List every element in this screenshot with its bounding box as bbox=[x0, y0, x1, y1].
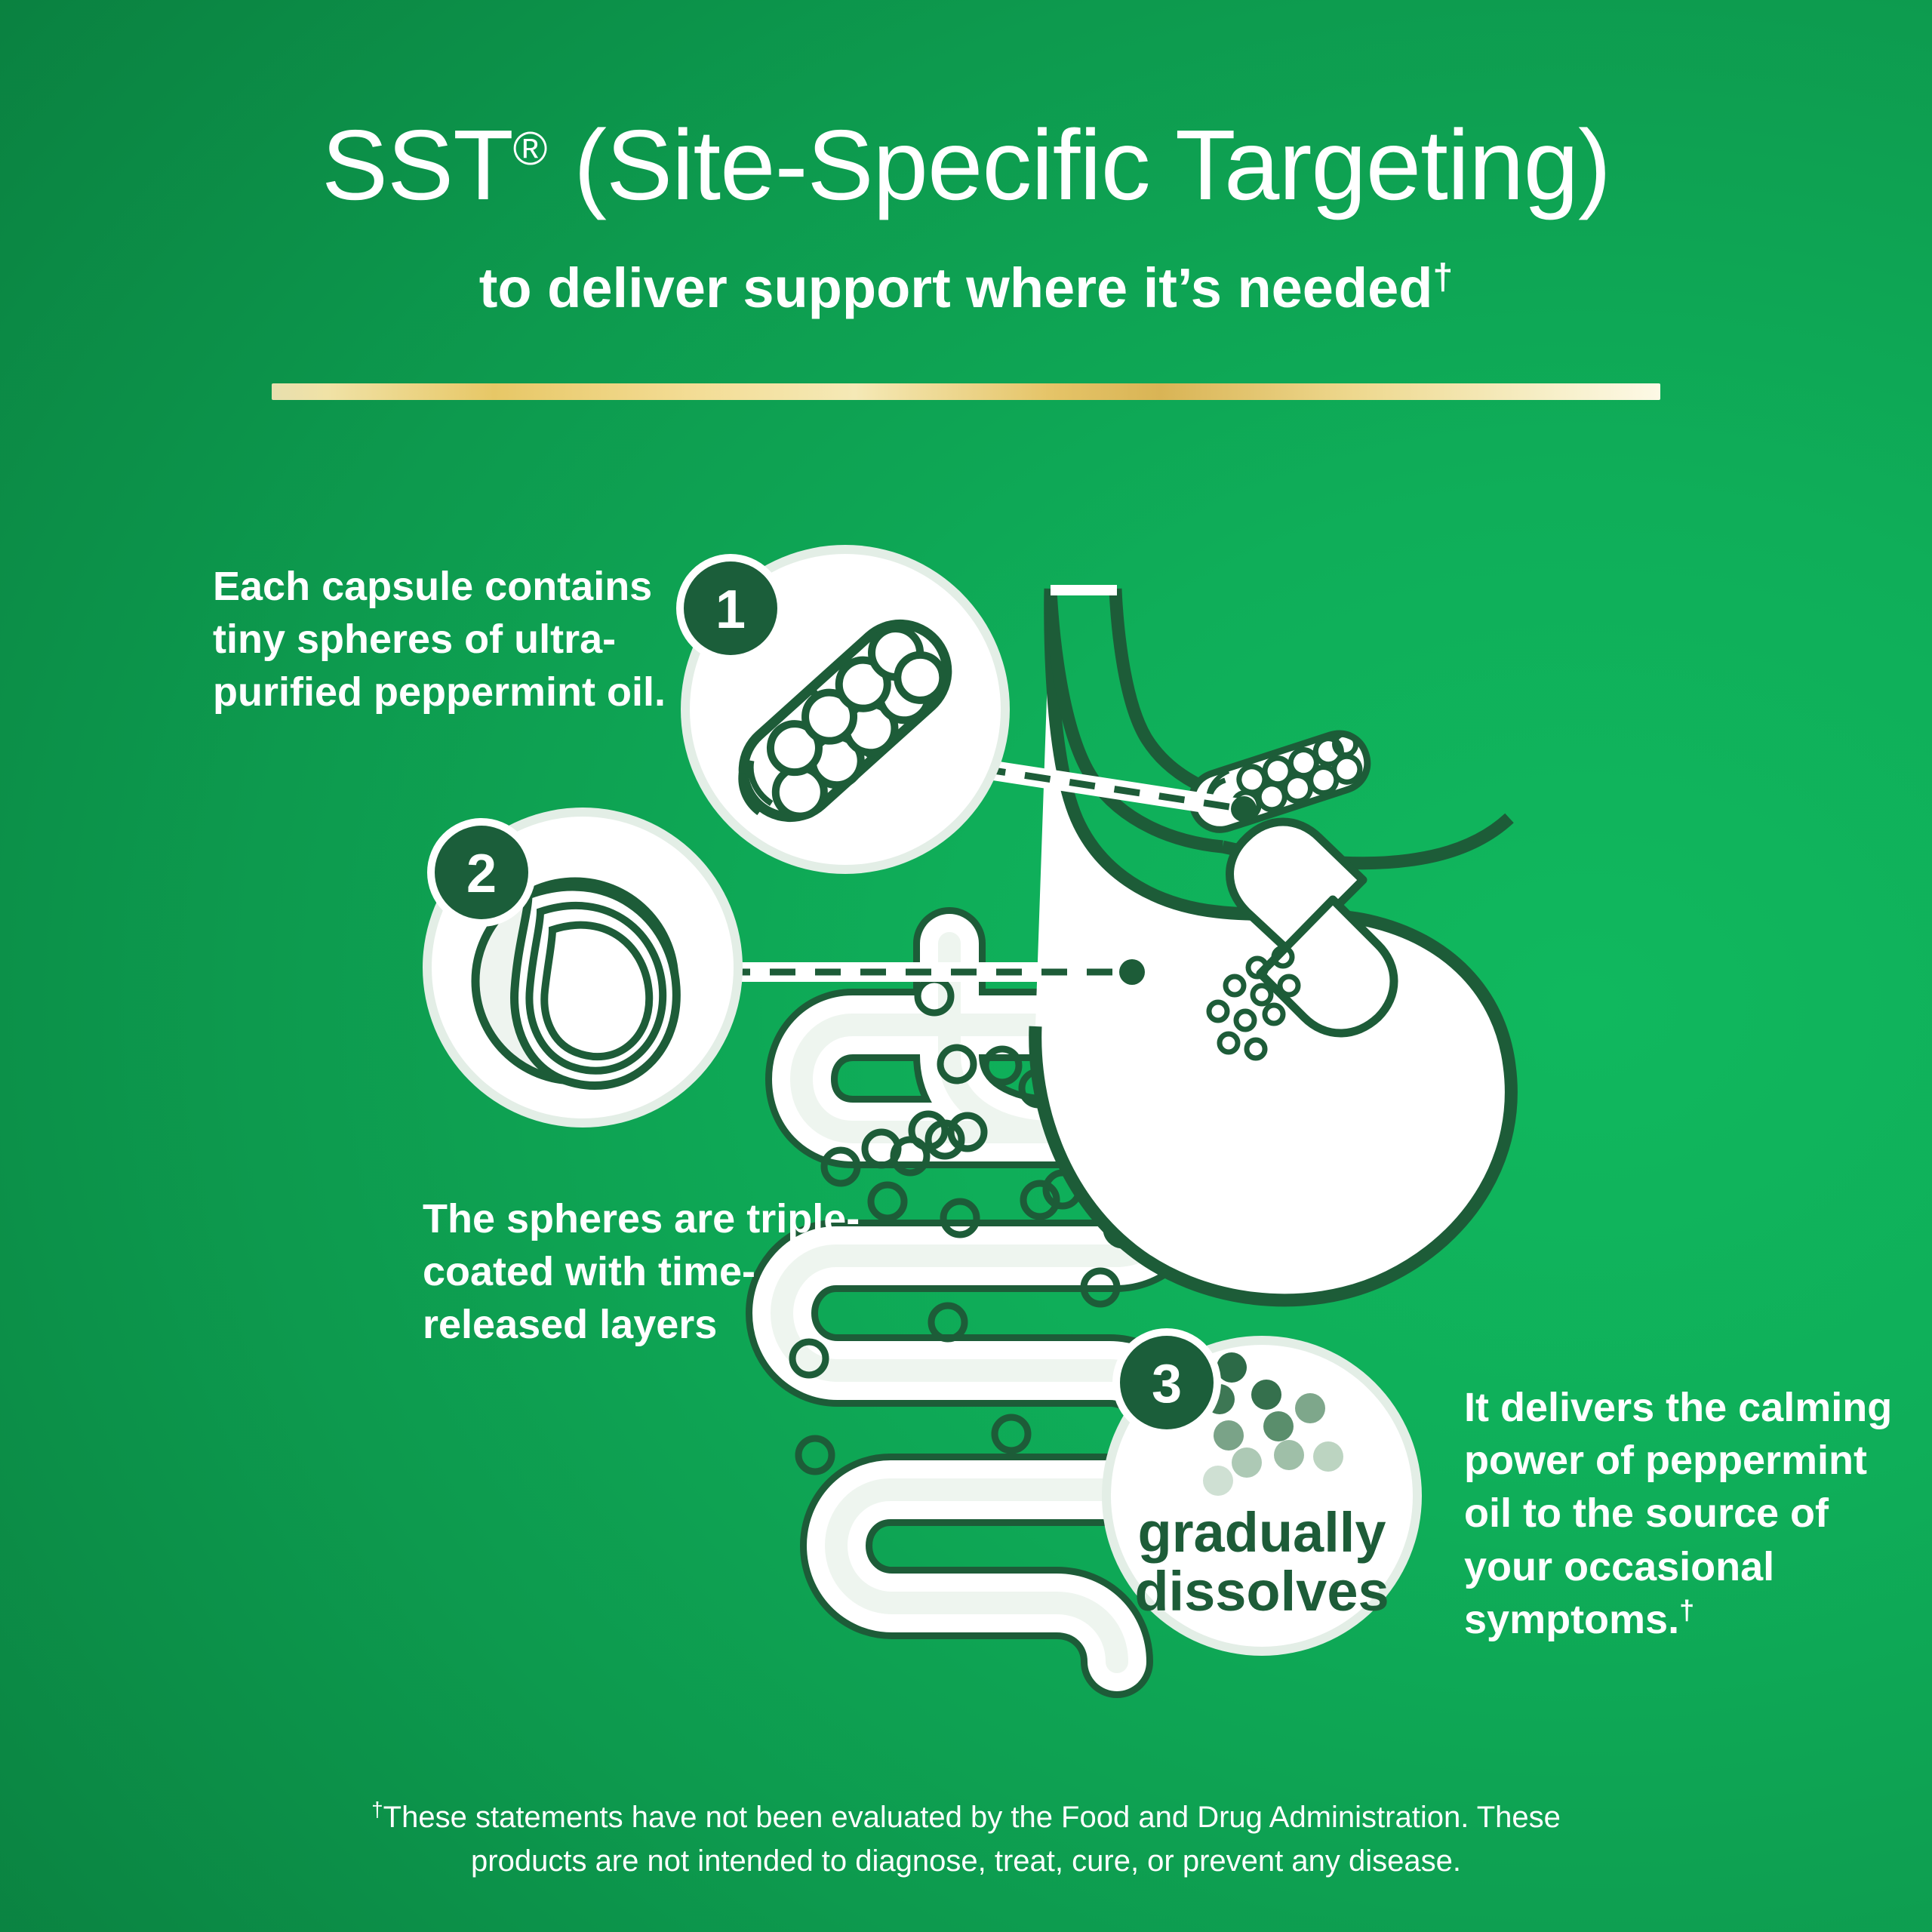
step-1-callout-circle: 1 bbox=[676, 545, 1010, 874]
footer-line-2: products are not intended to diagnose, t… bbox=[471, 1844, 1461, 1878]
subtitle-text: to deliver support where it’s needed bbox=[479, 257, 1433, 319]
step-3-callout-circle: gradually dissolves 3 bbox=[1102, 1328, 1422, 1656]
step-3-caption-text: It delivers the calming power of pepperm… bbox=[1464, 1385, 1892, 1642]
triple-coated-sphere-icon bbox=[475, 881, 676, 1086]
registered-mark-icon: ® bbox=[513, 123, 547, 175]
step-2-badge bbox=[435, 826, 528, 919]
dagger-icon: † bbox=[371, 1798, 383, 1821]
gradually-label: gradually bbox=[1138, 1501, 1386, 1564]
page-subtitle: to deliver support where it’s needed† bbox=[0, 257, 1932, 318]
connector-line-2 bbox=[724, 959, 1145, 985]
connector-line-1 bbox=[891, 755, 1257, 822]
gold-divider bbox=[272, 383, 1660, 400]
footer-line-1: These statements have not been evaluated… bbox=[383, 1801, 1561, 1834]
dagger-icon: † bbox=[1433, 257, 1454, 297]
step-1-number: 1 bbox=[715, 580, 746, 640]
step-1-caption: Each capsule contains tiny spheres of ul… bbox=[213, 560, 681, 719]
page-title: SST® (Site-Specific Targeting) bbox=[0, 113, 1932, 218]
stomach-illustration bbox=[1035, 585, 1512, 1300]
opening-capsule-icon bbox=[1209, 822, 1394, 1058]
dissolves-label: dissolves bbox=[1134, 1560, 1389, 1623]
step-3-caption: It delivers the calming power of pepperm… bbox=[1464, 1381, 1917, 1646]
step-2-caption: The spheres are triple-coated with time-… bbox=[423, 1192, 891, 1352]
step-1-badge bbox=[684, 561, 777, 655]
title-expansion: (Site-Specific Targeting) bbox=[546, 109, 1611, 220]
step-2-number: 2 bbox=[466, 844, 497, 904]
infographic-canvas: SST® (Site-Specific Targeting) to delive… bbox=[0, 0, 1932, 1932]
footer-disclaimer: †These statements have not been evaluate… bbox=[302, 1795, 1630, 1883]
step-3-badge bbox=[1120, 1336, 1214, 1429]
released-microspheres bbox=[1209, 948, 1298, 1058]
dissolving-particles-icon bbox=[1203, 1352, 1343, 1496]
header: SST® (Site-Specific Targeting) to delive… bbox=[0, 0, 1932, 318]
capsule-with-spheres-icon bbox=[720, 605, 967, 841]
step-3-number: 3 bbox=[1152, 1354, 1182, 1414]
title-brand: SST bbox=[321, 109, 513, 220]
step-2-callout-circle: 2 bbox=[423, 808, 743, 1128]
spheres-cluster-icon bbox=[1185, 726, 1375, 836]
dagger-icon: † bbox=[1679, 1595, 1694, 1626]
